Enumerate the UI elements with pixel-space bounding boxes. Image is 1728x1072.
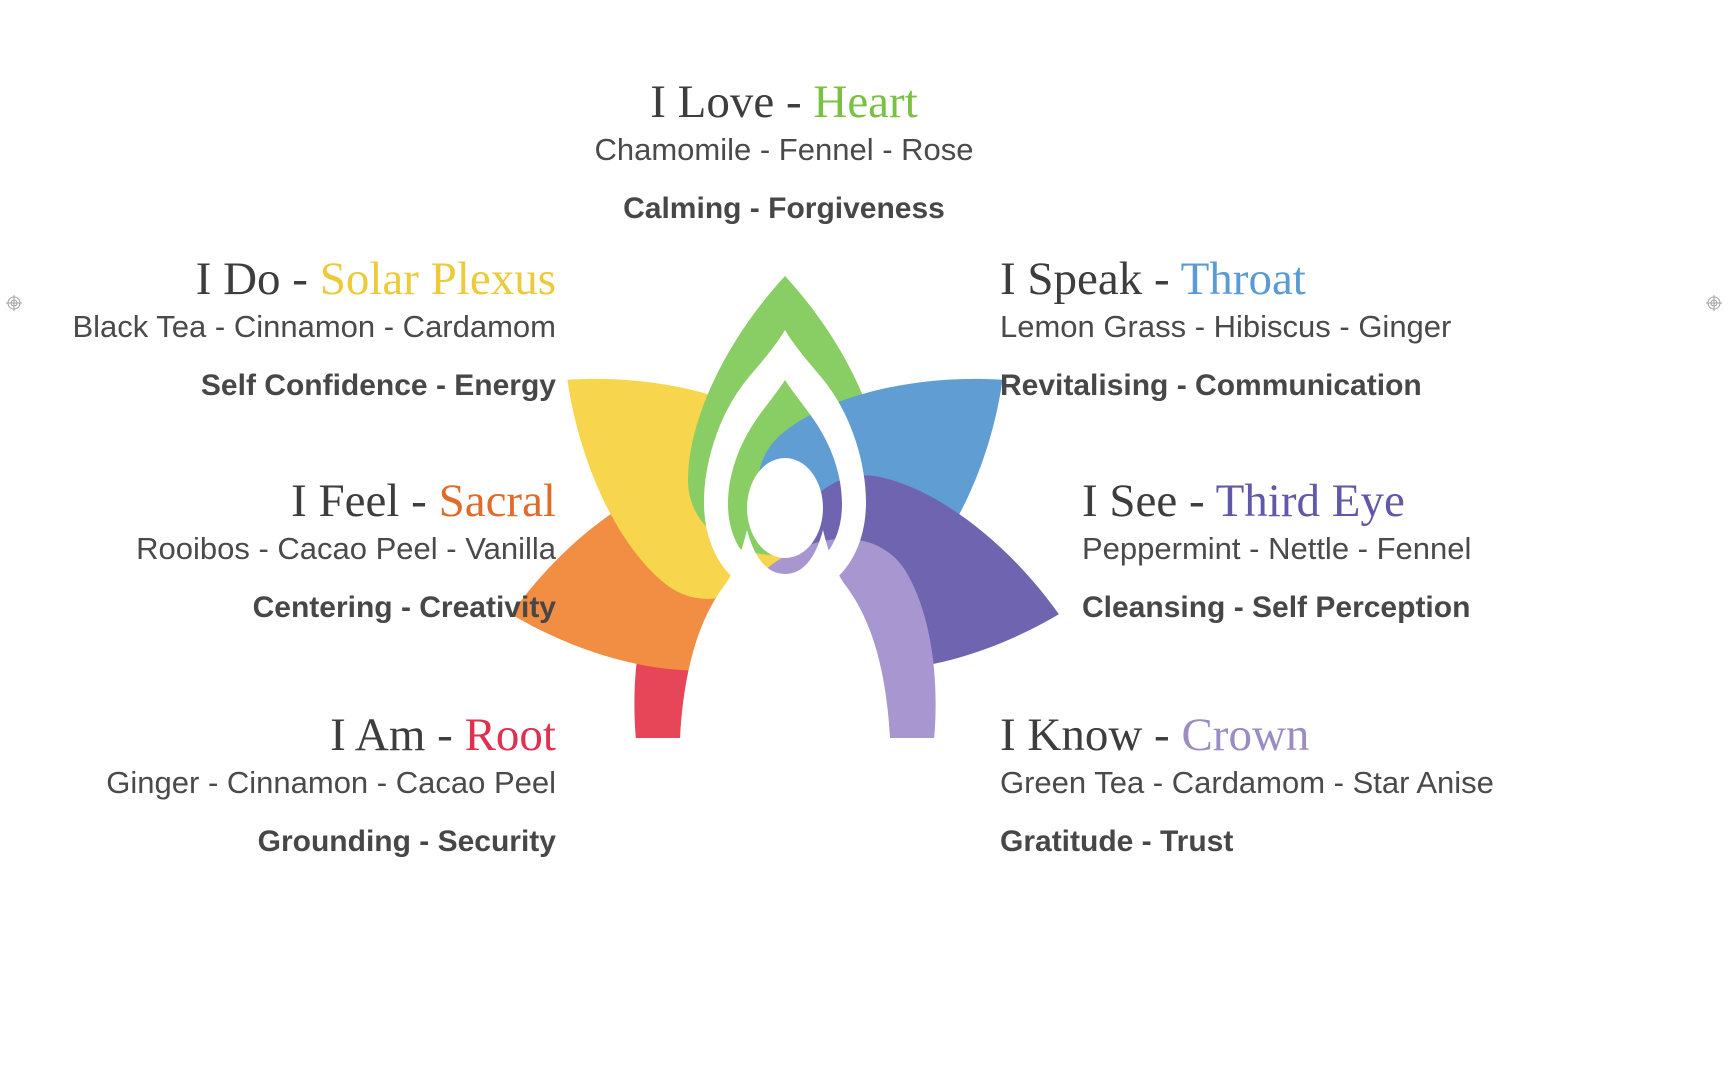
- chakra-title-crown: I Know - Crown: [1000, 711, 1620, 761]
- chakra-affirmation-sacral: I Feel -: [291, 475, 438, 527]
- chakra-ingredients-root: Ginger - Cinnamon - Cacao Peel: [0, 763, 556, 803]
- chakra-affirmation-root: I Am -: [330, 709, 464, 761]
- chakra-entry-crown: I Know - Crown Green Tea - Cardamom - St…: [1000, 711, 1620, 862]
- chakra-title-throat: I Speak - Throat: [1000, 255, 1620, 305]
- chakra-qualities-root: Grounding - Security: [0, 823, 556, 861]
- chakra-ingredients-third-eye: Peppermint - Nettle - Fennel: [1082, 529, 1702, 569]
- chakra-affirmation-crown: I Know -: [1000, 709, 1181, 761]
- chakra-qualities-sacral: Centering - Creativity: [0, 589, 556, 627]
- chakra-name-third-eye: Third Eye: [1216, 475, 1405, 527]
- chakra-qualities-heart: Calming - Forgiveness: [474, 190, 1094, 228]
- chakra-affirmation-solar-plexus: I Do -: [196, 253, 320, 305]
- chakra-title-heart: I Love - Heart: [474, 78, 1094, 128]
- chakra-name-root: Root: [465, 709, 556, 761]
- registration-mark-right: [1706, 295, 1722, 311]
- chakra-title-solar-plexus: I Do - Solar Plexus: [0, 255, 556, 305]
- chakra-entry-sacral: I Feel - Sacral Rooibos - Cacao Peel - V…: [0, 477, 556, 628]
- chakra-ingredients-heart: Chamomile - Fennel - Rose: [474, 130, 1094, 170]
- chakra-affirmation-heart: I Love -: [650, 76, 813, 128]
- chakra-title-sacral: I Feel - Sacral: [0, 477, 556, 527]
- chakra-qualities-third-eye: Cleansing - Self Perception: [1082, 589, 1702, 627]
- chakra-affirmation-throat: I Speak -: [1000, 253, 1181, 305]
- chakra-title-third-eye: I See - Third Eye: [1082, 477, 1702, 527]
- chakra-title-root: I Am - Root: [0, 711, 556, 761]
- figure-head: [747, 458, 823, 558]
- infographic-canvas: I Love - Heart Chamomile - Fennel - Rose…: [0, 0, 1728, 1072]
- chakra-ingredients-crown: Green Tea - Cardamom - Star Anise: [1000, 763, 1620, 803]
- chakra-ingredients-throat: Lemon Grass - Hibiscus - Ginger: [1000, 307, 1620, 347]
- chakra-ingredients-solar-plexus: Black Tea - Cinnamon - Cardamom: [0, 307, 556, 347]
- chakra-affirmation-third-eye: I See -: [1082, 475, 1216, 527]
- chakra-name-solar-plexus: Solar Plexus: [320, 253, 556, 305]
- chakra-name-sacral: Sacral: [439, 475, 556, 527]
- chakra-entry-heart: I Love - Heart Chamomile - Fennel - Rose…: [474, 78, 1094, 229]
- chakra-name-crown: Crown: [1181, 709, 1309, 761]
- chakra-name-throat: Throat: [1181, 253, 1306, 305]
- chakra-qualities-solar-plexus: Self Confidence - Energy: [0, 367, 556, 405]
- chakra-name-heart: Heart: [813, 76, 917, 128]
- chakra-entry-third-eye: I See - Third Eye Peppermint - Nettle - …: [1082, 477, 1702, 628]
- chakra-qualities-throat: Revitalising - Communication: [1000, 367, 1620, 405]
- chakra-entry-root: I Am - Root Ginger - Cinnamon - Cacao Pe…: [0, 711, 556, 862]
- chakra-qualities-crown: Gratitude - Trust: [1000, 823, 1620, 861]
- chakra-ingredients-sacral: Rooibos - Cacao Peel - Vanilla: [0, 529, 556, 569]
- chakra-entry-throat: I Speak - Throat Lemon Grass - Hibiscus …: [1000, 255, 1620, 406]
- lotus-figure-illustration: [510, 268, 1070, 738]
- chakra-entry-solar-plexus: I Do - Solar Plexus Black Tea - Cinnamon…: [0, 255, 556, 406]
